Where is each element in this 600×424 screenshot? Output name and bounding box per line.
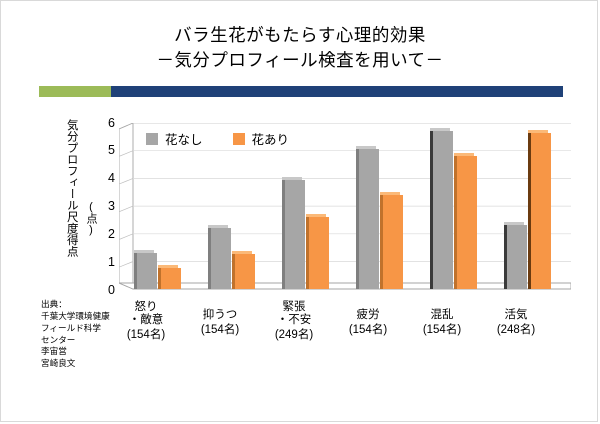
source-line-1: 出典： (41, 299, 133, 311)
bar-fatigue-no-flower (359, 149, 379, 289)
source-line-6: 宮崎良文 (41, 358, 133, 370)
x-label-depression-name: 抑うつ (183, 309, 257, 322)
bar-anger-no-flower (137, 253, 157, 289)
chart-legend: 花なし 花あり (146, 129, 289, 148)
legend-item-with-flower: 花あり (233, 129, 290, 148)
bar-vigor-with-flower (531, 133, 551, 290)
bar-fatigue-with-flower (383, 195, 403, 289)
bar-vigor-no-flower (507, 225, 527, 289)
title-line-1: バラ生花がもたらす心理的効果 (1, 23, 599, 48)
source-credit: 出典： 千葉大学環境健康 フィールド科学 センター 李宙営 宮崎良文 (41, 299, 133, 370)
legend-item-no-flower: 花なし (146, 129, 203, 148)
x-label-tension: 緊張 ・不安 (249名) (257, 301, 331, 342)
divider-navy-segment (111, 86, 563, 97)
x-label-depression: 抑うつ (154名) (183, 301, 257, 337)
chart-bars (119, 123, 571, 303)
source-line-3: フィールド科学 (41, 323, 133, 335)
x-label-vigor-count: (248名) (479, 324, 553, 337)
bar-depression-with-flower (235, 254, 255, 289)
bar-confusion-with-flower (457, 156, 477, 289)
divider-green-segment (39, 86, 111, 97)
legend-label-with-flower: 花あり (252, 129, 290, 148)
source-line-4: センター (41, 335, 133, 347)
x-label-confusion: 混乱 (154名) (405, 301, 479, 337)
title-line-2: －気分プロフィール検査を用いて－ (1, 48, 599, 73)
x-label-vigor: 活気 (248名) (479, 301, 553, 337)
x-label-tension-count: (249名) (257, 329, 331, 342)
source-line-2: 千葉大学環境健康 (41, 311, 133, 323)
x-label-fatigue: 疲労 (154名) (331, 301, 405, 337)
x-label-depression-count: (154名) (183, 324, 257, 337)
x-label-fatigue-count: (154名) (331, 324, 405, 337)
chart-plot-area (1, 109, 599, 309)
x-label-confusion-name: 混乱 (405, 309, 479, 322)
x-label-tension-name: 緊張 ・不安 (257, 301, 331, 327)
x-label-vigor-name: 活気 (479, 309, 553, 322)
legend-label-no-flower: 花なし (165, 129, 203, 148)
bar-anger-with-flower (161, 268, 181, 289)
chart-3d-plot (119, 123, 571, 303)
bar-depression-no-flower (211, 228, 231, 289)
bar-tension-with-flower (309, 217, 329, 289)
page-title: バラ生花がもたらす心理的効果 －気分プロフィール検査を用いて－ (1, 23, 599, 73)
x-axis-labels: 怒り ・敵意 (154名) 抑うつ (154名) 緊張 ・不安 (249名) 疲… (119, 301, 571, 361)
legend-swatch-icon-with-flower (233, 133, 245, 145)
x-label-confusion-count: (154名) (405, 324, 479, 337)
title-divider (39, 86, 563, 97)
bar-tension-no-flower (285, 180, 305, 289)
source-line-5: 李宙営 (41, 346, 133, 358)
bar-confusion-no-flower (433, 131, 453, 289)
legend-swatch-icon-no-flower (146, 133, 158, 145)
x-label-fatigue-name: 疲労 (331, 309, 405, 322)
slide-canvas: バラ生花がもたらす心理的効果 －気分プロフィール検査を用いて－ 気分プロフィール… (0, 0, 598, 422)
